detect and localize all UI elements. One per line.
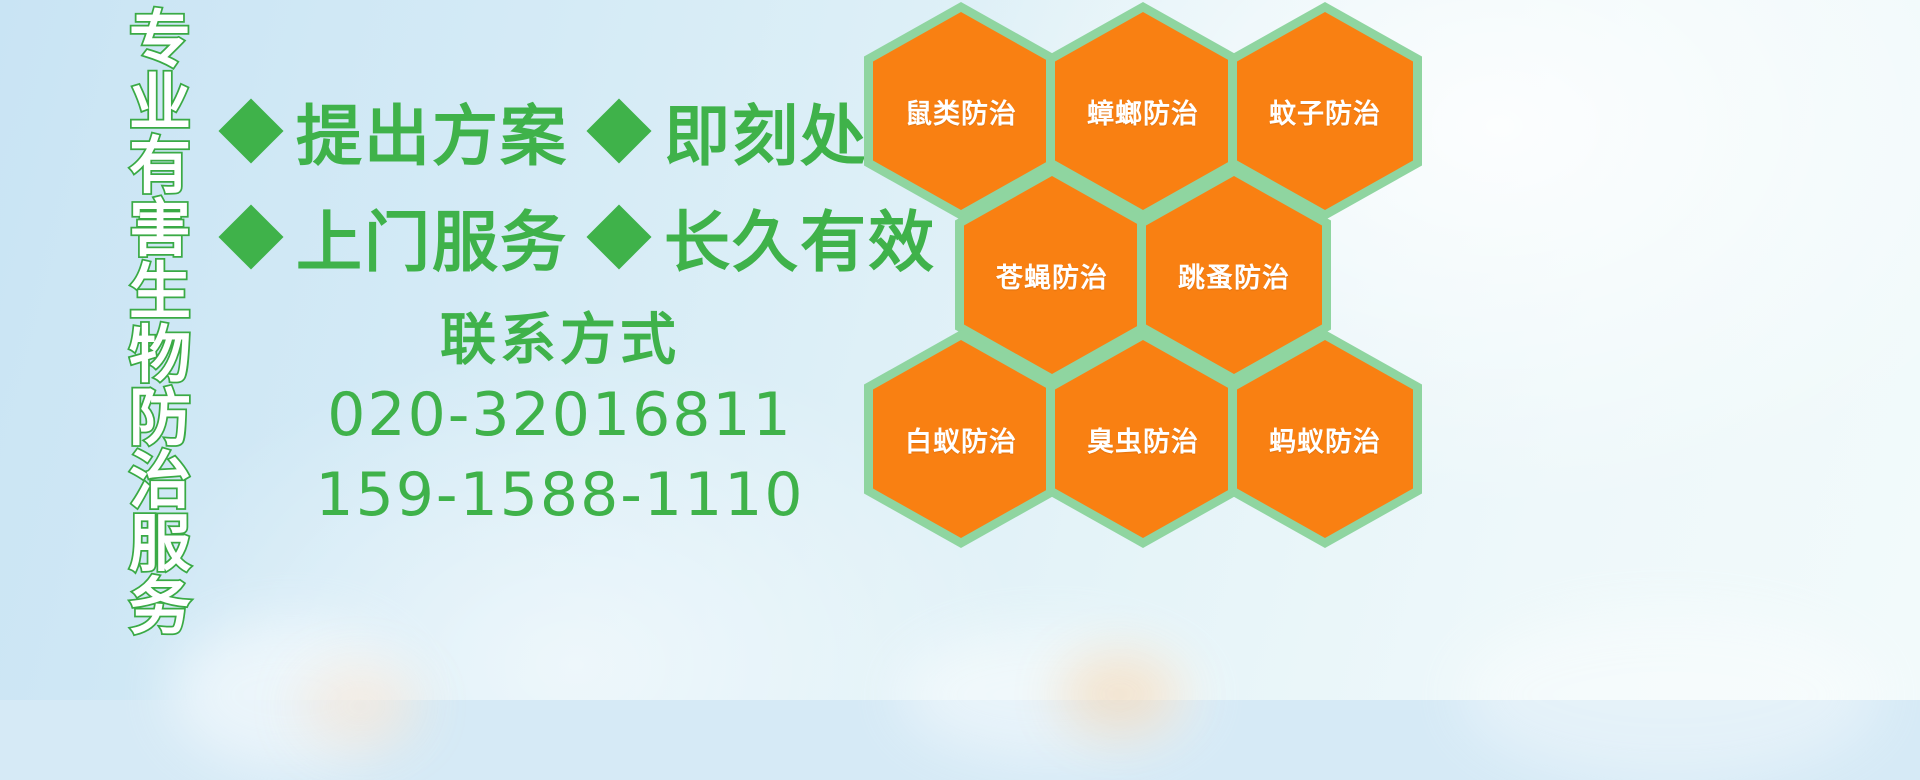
vertical-slogan-char: 治 [129, 449, 191, 512]
vertical-slogan-char: 服 [129, 512, 191, 575]
feature-list: 提出方案 即刻处理 上门服务 长久有效 [228, 78, 936, 290]
vertical-slogan-char: 生 [129, 260, 191, 323]
feature-row: 上门服务 长久有效 [228, 184, 936, 290]
contact-title: 联系方式 [300, 306, 820, 376]
vertical-slogan-char: 有 [129, 134, 191, 197]
services-honeycomb: 鼠类防治 蟑螂防治 蚊子防治 苍蝇防治 跳蚤防治 白蚁防治 [858, 0, 1458, 554]
service-hex-label: 臭虫防治 [1087, 420, 1199, 459]
service-hex-label: 鼠类防治 [905, 92, 1017, 131]
hex-inner: 苍蝇防治 [964, 176, 1140, 374]
service-hex-label: 苍蝇防治 [996, 256, 1108, 295]
decor-blob [300, 666, 420, 746]
vertical-slogan-char: 害 [129, 197, 191, 260]
contact-block: 联系方式 020-32016811 159-1588-1110 [300, 306, 820, 536]
diamond-bullet-icon [218, 98, 283, 163]
hex-inner: 鼠类防治 [873, 12, 1049, 210]
decor-blob [1060, 654, 1180, 734]
hex-inner: 白蚁防治 [873, 340, 1049, 538]
service-hex-label: 跳蚤防治 [1178, 256, 1290, 295]
diamond-bullet-icon [586, 204, 651, 269]
service-hex-label: 白蚁防治 [905, 420, 1017, 459]
service-hex-label: 蚂蚁防治 [1269, 420, 1381, 459]
vertical-slogan-char: 业 [129, 71, 191, 134]
feature-label: 提出方案 [296, 83, 568, 179]
vertical-slogan-char: 专 [129, 8, 191, 71]
vertical-slogan-char: 物 [129, 323, 191, 386]
decor-blob [1460, 610, 1880, 780]
hex-inner: 蚂蚁防治 [1237, 340, 1413, 538]
contact-phone-mobile[interactable]: 159-1588-1110 [300, 456, 820, 536]
diamond-bullet-icon [218, 204, 283, 269]
contact-phone-landline[interactable]: 020-32016811 [300, 376, 820, 456]
diamond-bullet-icon [586, 98, 651, 163]
feature-item-door-to-door-service: 上门服务 [228, 189, 568, 285]
hex-inner: 蟑螂防治 [1055, 12, 1231, 210]
feature-item-propose-plan: 提出方案 [228, 83, 568, 179]
hex-inner: 跳蚤防治 [1146, 176, 1322, 374]
hex-inner: 蚊子防治 [1237, 12, 1413, 210]
banner-canvas: 专 业 有 害 生 物 防 治 服 务 提出方案 即刻处理 上门服务 [0, 0, 1920, 700]
vertical-slogan-char: 务 [129, 575, 191, 638]
service-hex-label: 蟑螂防治 [1087, 92, 1199, 131]
feature-row: 提出方案 即刻处理 [228, 78, 936, 184]
service-hex-label: 蚊子防治 [1269, 92, 1381, 131]
feature-label: 上门服务 [296, 189, 568, 285]
hex-inner: 臭虫防治 [1055, 340, 1231, 538]
vertical-slogan: 专 业 有 害 生 物 防 治 服 务 [108, 8, 212, 638]
vertical-slogan-char: 防 [129, 386, 191, 449]
